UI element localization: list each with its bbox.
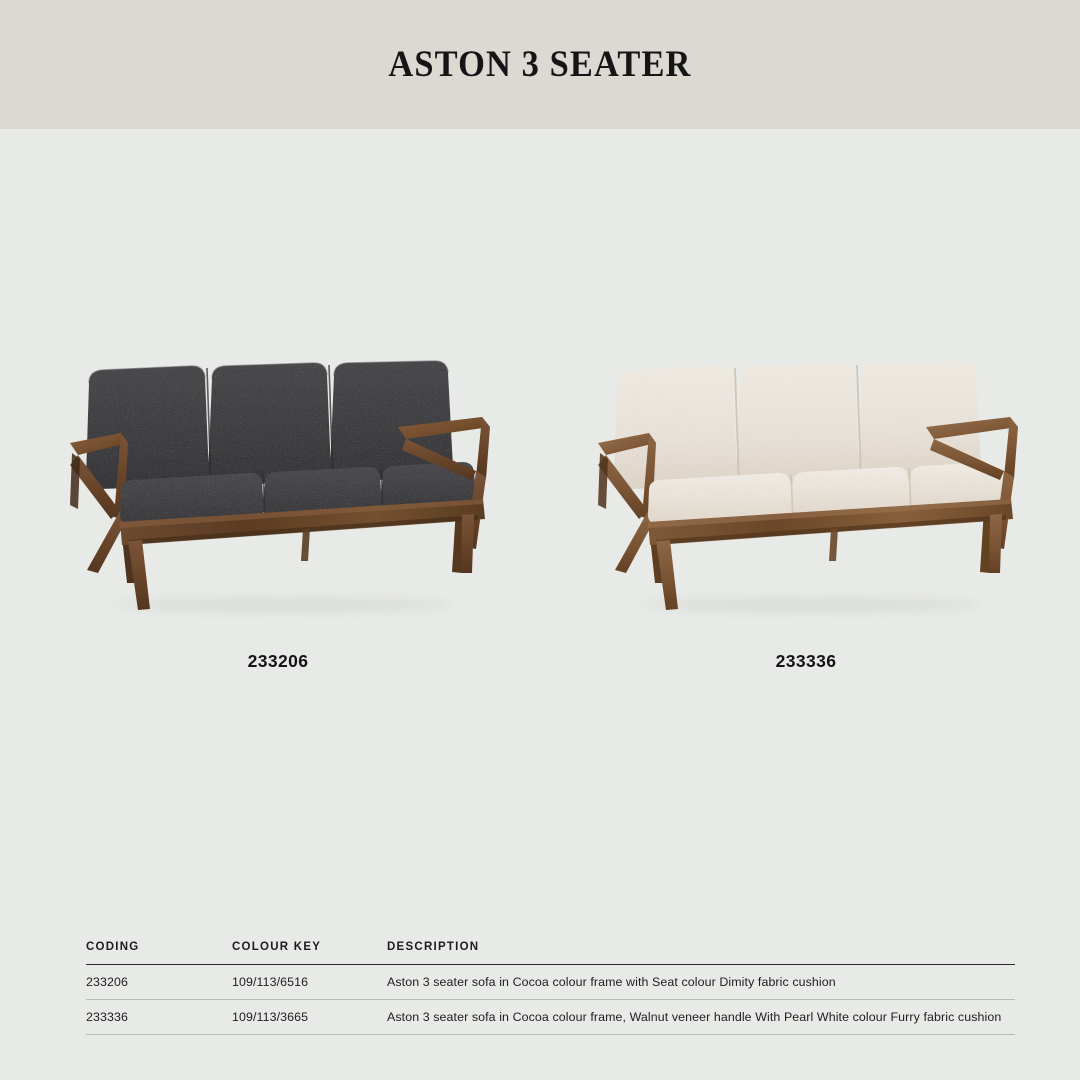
cell-coding: 233206 <box>86 975 232 989</box>
product-image-233336 <box>556 279 1056 639</box>
column-header-description: DESCRIPTION <box>387 941 1015 953</box>
product-code-233336: 233336 <box>556 651 1056 672</box>
column-header-coding: CODING <box>86 941 232 953</box>
cell-coding: 233336 <box>86 1010 232 1024</box>
sofa-illustration-dark <box>58 359 498 639</box>
product-code-233206: 233206 <box>28 651 528 672</box>
product-card-233206[interactable]: 233206 <box>28 129 528 709</box>
page-title: ASTON 3 SEATER <box>388 43 691 86</box>
page-header: ASTON 3 SEATER <box>0 0 1080 129</box>
product-card-233336[interactable]: 233336 <box>556 129 1056 709</box>
spec-table-header-row: CODING COLOUR KEY DESCRIPTION <box>86 930 1015 965</box>
cell-colour-key: 109/113/3665 <box>232 1010 387 1024</box>
cell-description: Aston 3 seater sofa in Cocoa colour fram… <box>387 975 1015 989</box>
product-gallery: 233206 <box>0 129 1080 709</box>
spec-table: CODING COLOUR KEY DESCRIPTION 233206 109… <box>86 930 1015 1035</box>
cell-description: Aston 3 seater sofa in Cocoa colour fram… <box>387 1010 1015 1024</box>
table-row[interactable]: 233336 109/113/3665 Aston 3 seater sofa … <box>86 1000 1015 1035</box>
sofa-illustration-cream <box>586 359 1026 639</box>
product-image-233206 <box>28 279 528 639</box>
cell-colour-key: 109/113/6516 <box>232 975 387 989</box>
table-row[interactable]: 233206 109/113/6516 Aston 3 seater sofa … <box>86 965 1015 1000</box>
column-header-colour-key: COLOUR KEY <box>232 941 387 953</box>
